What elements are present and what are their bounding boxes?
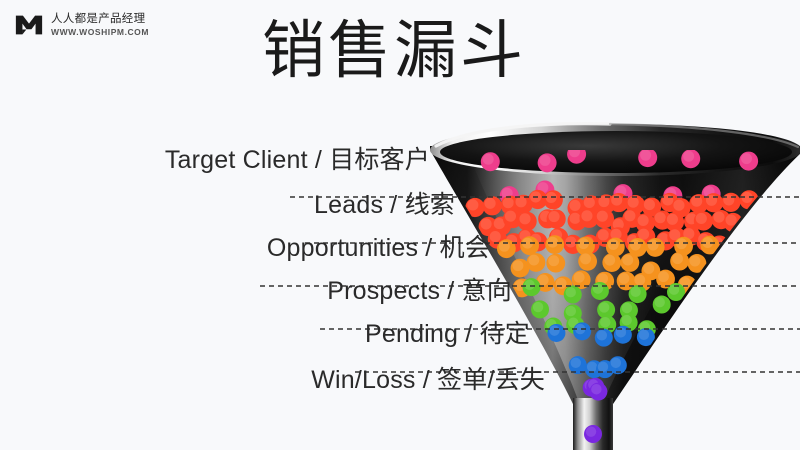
funnel-dot-2-22 — [518, 212, 537, 231]
funnel-dot-2-24 — [547, 209, 566, 228]
funnel-dot-2-34 — [694, 211, 713, 230]
funnel-dot-1-1 — [481, 152, 500, 171]
funnel-dot-4-6 — [531, 300, 549, 318]
funnel-dot-4-10 — [653, 296, 671, 314]
stage-label-4: Prospects / 意向 — [327, 271, 512, 307]
stage-label-1: Target Client / 目标客户 — [165, 140, 430, 176]
funnel-dot-3-1 — [497, 239, 516, 258]
funnel-dot-3-17 — [670, 252, 689, 271]
stage-label-5: Pending / 待定 — [365, 314, 530, 350]
funnel-dot-3-12 — [546, 254, 565, 273]
funnel-dot-3-15 — [620, 253, 639, 272]
funnel-dot-4-2 — [564, 286, 582, 304]
funnel-dot-2-17 — [721, 193, 740, 212]
funnel-dot-1-5 — [681, 149, 700, 168]
funnel-dot-3-7 — [646, 238, 665, 257]
funnel-dot-2-16 — [704, 193, 723, 212]
funnel-dot-3-5 — [606, 238, 625, 257]
funnel-dot-2-6 — [544, 190, 563, 209]
funnel-dot-stem — [584, 425, 602, 443]
funnel-dot-2-10 — [609, 193, 628, 212]
funnel-dot-3-14 — [602, 253, 621, 272]
funnel-dot-4-1 — [522, 278, 540, 296]
funnel-dot-5-1 — [547, 324, 565, 342]
funnel-dot-2-2 — [483, 196, 502, 215]
stage-label-3: Opportunities / 机会 — [267, 228, 490, 264]
stage-label-6: Win/Loss / 签单/丢失 — [311, 360, 545, 396]
funnel-dot-3-3 — [545, 235, 564, 254]
funnel-dot-3-13 — [578, 252, 597, 271]
funnel-dot-1-4 — [638, 148, 657, 167]
funnel-dot-1-6 — [739, 152, 758, 171]
funnel-dot-5-2 — [573, 322, 591, 340]
funnel-dot-6-3 — [589, 383, 607, 401]
funnel-dot-4-4 — [629, 285, 647, 303]
funnel-dot-4-3 — [591, 282, 609, 300]
funnel-dot-1-2 — [538, 153, 557, 172]
funnel-dot-3-2 — [520, 236, 539, 255]
funnel-dot-5-3 — [595, 329, 613, 347]
stage-label-2: Leads / 线索 — [314, 185, 455, 221]
funnel-dot-3-11 — [527, 253, 546, 272]
